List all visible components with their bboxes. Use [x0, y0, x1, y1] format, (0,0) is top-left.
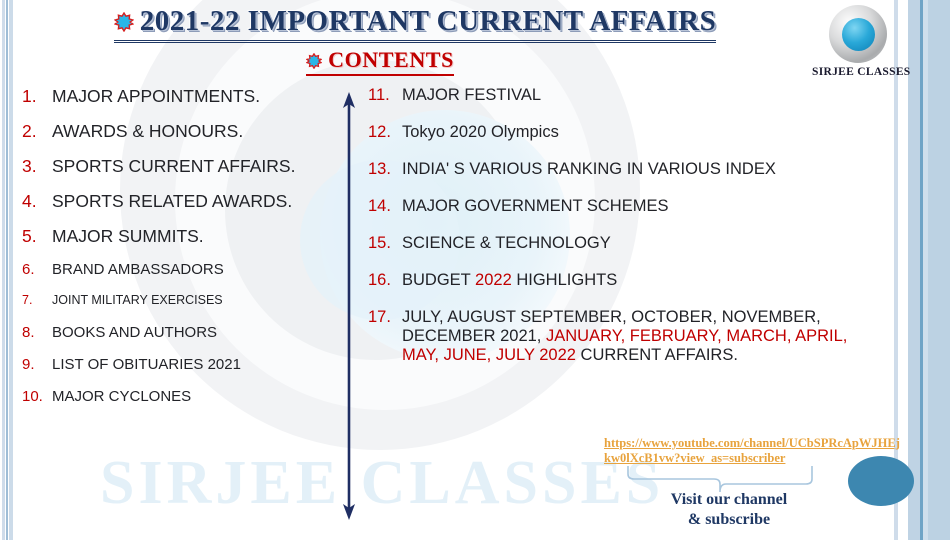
list-item-number: 9. — [22, 356, 52, 373]
list-item-number: 17. — [368, 308, 402, 327]
slide-canvas: SIRJEE CLASSES 2021-22 IMPORTANT CURRENT… — [0, 0, 950, 540]
list-item-number: 3. — [22, 156, 52, 177]
list-item-number: 16. — [368, 271, 402, 290]
list-item[interactable]: 9.LIST OF OBITUARIES 2021 — [22, 356, 322, 373]
list-item[interactable]: 15. SCIENCE & TECHNOLOGY — [368, 234, 888, 253]
page-title: 2021-22 IMPORTANT CURRENT AFFAIRS — [114, 6, 716, 43]
list-item[interactable]: 2.AWARDS & HONOURS. — [22, 121, 322, 142]
list-item[interactable]: 8.BOOKS AND AUTHORS — [22, 324, 322, 341]
left-edge-stripes — [0, 0, 16, 540]
list-item[interactable]: 6.BRAND AMBASSADORS — [22, 261, 322, 278]
list-item[interactable]: 1.MAJOR APPOINTMENTS. — [22, 86, 322, 107]
list-item-months[interactable]: 17. JULY, AUGUST SEPTEMBER, OCTOBER, NOV… — [368, 308, 888, 365]
contents-list-right: 11.MAJOR FESTIVAL 12.Tokyo 2020 Olympics… — [368, 86, 888, 384]
list-item-label: JOINT MILITARY EXERCISES — [52, 293, 322, 307]
list-item-number: 13. — [368, 160, 402, 179]
list-item-number: 6. — [22, 261, 52, 278]
contents-list-left: 1.MAJOR APPOINTMENTS. 2.AWARDS & HONOURS… — [22, 86, 322, 420]
list-item-label: MAJOR CYCLONES — [52, 388, 322, 405]
list-item[interactable]: 5.MAJOR SUMMITS. — [22, 226, 322, 247]
logo-core-sphere — [842, 18, 875, 51]
list-item-label: MAJOR APPOINTMENTS. — [52, 86, 322, 107]
cta-line-1: Visit our channel — [604, 490, 854, 510]
logo-label: SIRJEE CLASSES — [812, 66, 904, 78]
page-title-text: 2021-22 IMPORTANT CURRENT AFFAIRS — [140, 5, 716, 37]
list-item-number: 15. — [368, 234, 402, 253]
list-item-label: SPORTS RELATED AWARDS. — [52, 191, 322, 212]
list-item-label: INDIA' S VARIOUS RANKING IN VARIOUS INDE… — [402, 160, 888, 179]
list-item-number: 7. — [22, 293, 52, 307]
list-item-label: AWARDS & HONOURS. — [52, 121, 322, 142]
title-container: 2021-22 IMPORTANT CURRENT AFFAIRS — [0, 6, 830, 43]
list-item-number: 14. — [368, 197, 402, 216]
list-item[interactable]: 14. MAJOR GOVERNMENT SCHEMES — [368, 197, 888, 216]
curly-brace-icon — [626, 466, 816, 492]
youtube-channel-link[interactable]: https://www.youtube.com/channel/UCbSPRcA… — [604, 436, 904, 467]
contents-container: CONTENTS — [0, 48, 760, 76]
contents-heading: CONTENTS — [306, 48, 454, 76]
list-item-label: Tokyo 2020 Olympics — [402, 123, 888, 142]
budget-year-highlight: 2022 — [475, 271, 512, 289]
list-item[interactable]: 10.MAJOR CYCLONES — [22, 388, 322, 405]
sirjee-eye-logo-icon — [829, 5, 887, 63]
youtube-link-container[interactable]: https://www.youtube.com/channel/UCbSPRcA… — [604, 436, 904, 467]
list-item-number: 5. — [22, 226, 52, 247]
list-item-number: 11. — [368, 86, 402, 105]
list-item-label: LIST OF OBITUARIES 2021 — [52, 356, 322, 373]
budget-text-part2: HIGHLIGHTS — [512, 271, 617, 289]
list-item-label: BOOKS AND AUTHORS — [52, 324, 322, 341]
cta-line-2: & subscribe — [604, 510, 854, 530]
list-item[interactable]: 11.MAJOR FESTIVAL — [368, 86, 888, 105]
contents-heading-text: CONTENTS — [328, 47, 454, 72]
list-item-label: MAJOR FESTIVAL — [402, 86, 888, 105]
list-item-label: MAJOR GOVERNMENT SCHEMES — [402, 197, 888, 216]
list-item-number: 2. — [22, 121, 52, 142]
months-text-part2: CURRENT AFFAIRS. — [576, 346, 738, 364]
list-item-budget[interactable]: 16. BUDGET 2022 HIGHLIGHTS — [368, 271, 888, 290]
list-item-number: 12. — [368, 123, 402, 142]
list-item[interactable]: 7.JOINT MILITARY EXERCISES — [22, 293, 322, 307]
list-item[interactable]: 13. INDIA' S VARIOUS RANKING IN VARIOUS … — [368, 160, 888, 179]
flower-star-icon — [114, 8, 134, 38]
list-item[interactable]: 3.SPORTS CURRENT AFFAIRS. — [22, 156, 322, 177]
list-item-number: 1. — [22, 86, 52, 107]
cta-visit-channel: Visit our channel & subscribe — [604, 490, 854, 530]
list-item-number: 8. — [22, 324, 52, 341]
list-item-label: SPORTS CURRENT AFFAIRS. — [52, 156, 322, 177]
list-item[interactable]: 4.SPORTS RELATED AWARDS. — [22, 191, 322, 212]
list-item-number: 4. — [22, 191, 52, 212]
list-item[interactable]: 12.Tokyo 2020 Olympics — [368, 123, 888, 142]
list-item-label: BRAND AMBASSADORS — [52, 261, 322, 278]
double-headed-vertical-arrow-icon — [340, 92, 358, 520]
flower-star-icon-small — [306, 50, 322, 73]
list-item-number: 10. — [22, 388, 52, 405]
list-item-label: BUDGET 2022 HIGHLIGHTS — [402, 271, 888, 290]
list-item-label: MAJOR SUMMITS. — [52, 226, 322, 247]
list-item-label: JULY, AUGUST SEPTEMBER, OCTOBER, NOVEMBE… — [402, 308, 888, 365]
brand-logo: SIRJEE CLASSES — [812, 5, 904, 78]
list-item-label: SCIENCE & TECHNOLOGY — [402, 234, 888, 253]
budget-text-part1: BUDGET — [402, 271, 475, 289]
